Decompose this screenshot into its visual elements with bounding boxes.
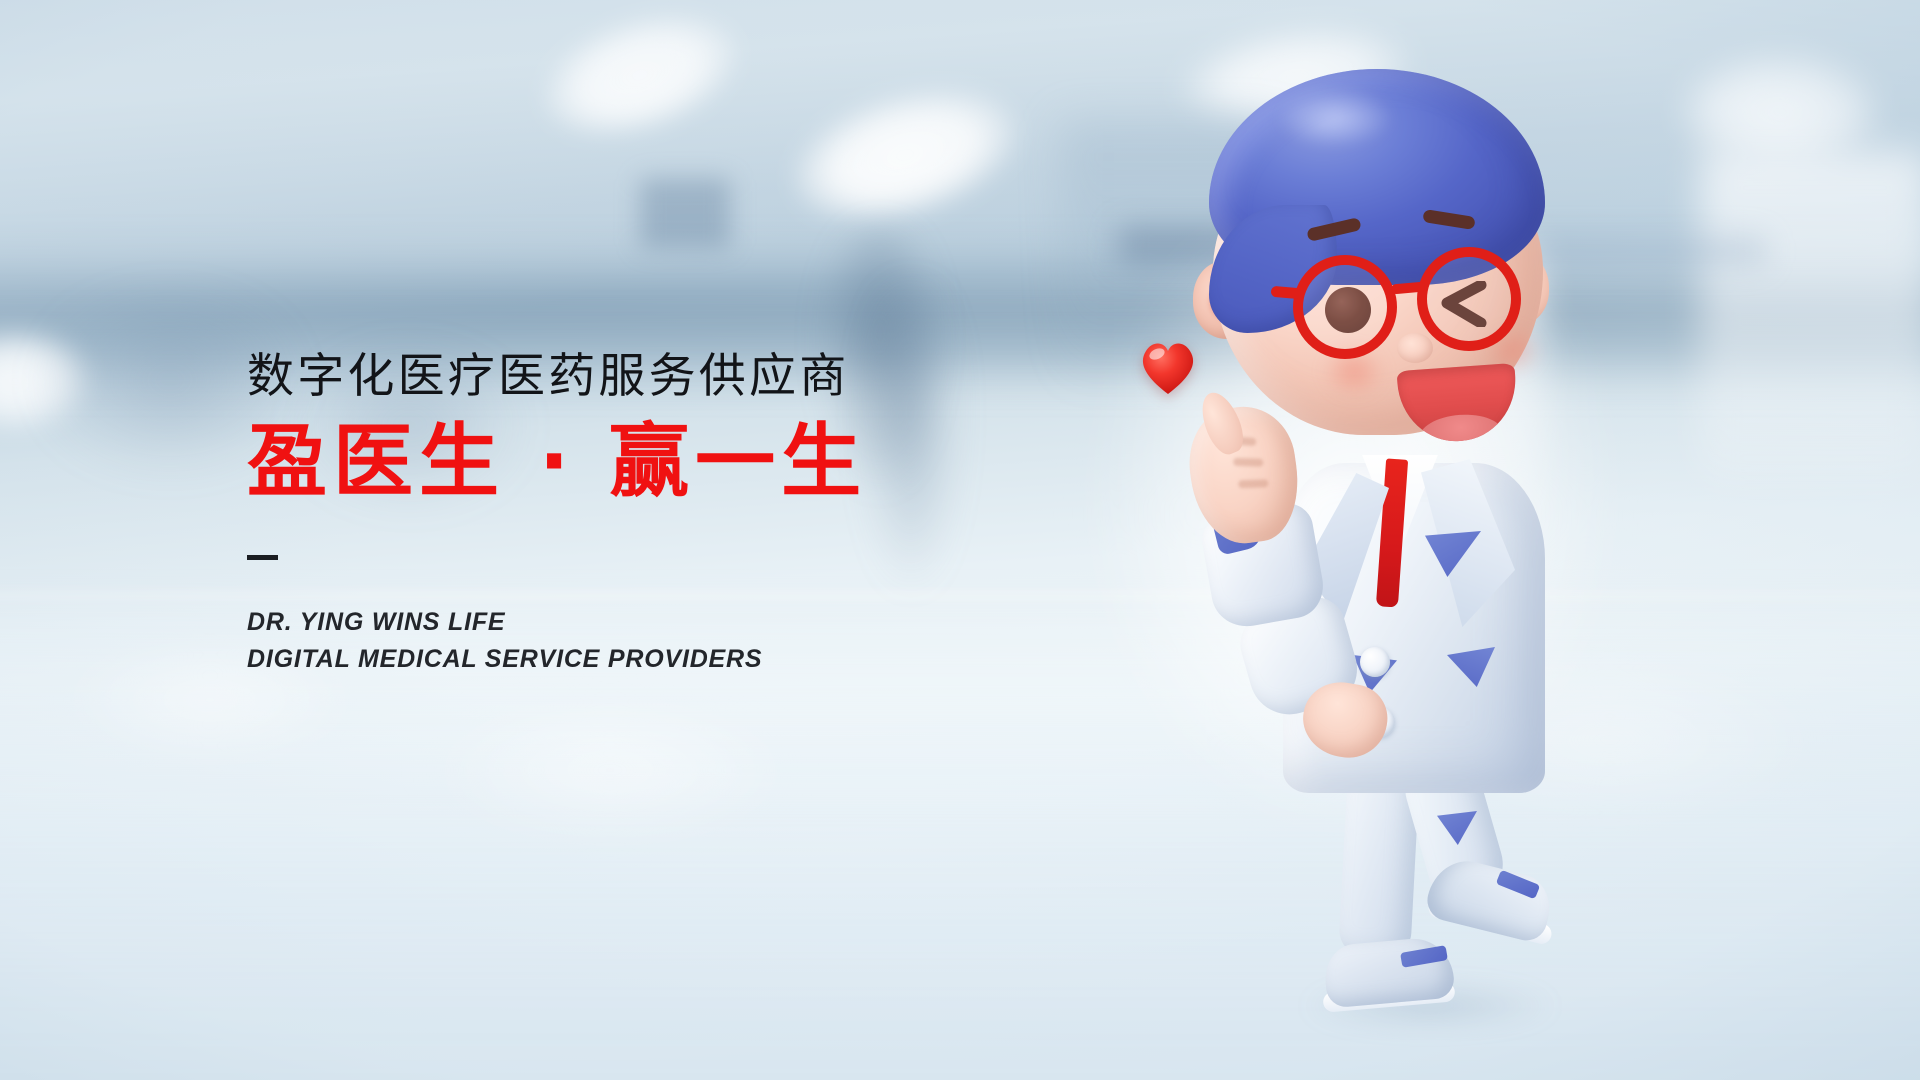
heart-icon bbox=[1137, 337, 1199, 397]
mascot-cap-highlight bbox=[1277, 89, 1393, 147]
mascot-nose bbox=[1397, 333, 1433, 363]
glasses-left-lens bbox=[1293, 255, 1397, 359]
mascot-tongue bbox=[1418, 412, 1505, 445]
doctor-mascot-illustration bbox=[1185, 55, 1635, 1055]
hero-subtitle-line-2: DIGITAL MEDICAL SERVICE PROVIDERS bbox=[247, 641, 1007, 678]
hero-subtitle: DR. YING WINS LIFE DIGITAL MEDICAL SERVI… bbox=[247, 604, 1007, 677]
mascot-coat-button bbox=[1360, 647, 1390, 677]
hero-copy: 数字化医疗医药服务供应商 盈医生 · 赢一生 DR. YING WINS LIF… bbox=[247, 352, 1007, 677]
hero-kicker: 数字化医疗医药服务供应商 bbox=[247, 352, 1007, 401]
hero-subtitle-line-1: DR. YING WINS LIFE bbox=[247, 604, 1007, 641]
hero-banner: 数字化医疗医药服务供应商 盈医生 · 赢一生 DR. YING WINS LIF… bbox=[0, 0, 1920, 1080]
glasses-right-lens bbox=[1417, 247, 1521, 351]
hero-headline: 盈医生 · 赢一生 bbox=[247, 420, 1007, 505]
hero-divider-rule bbox=[247, 555, 278, 560]
